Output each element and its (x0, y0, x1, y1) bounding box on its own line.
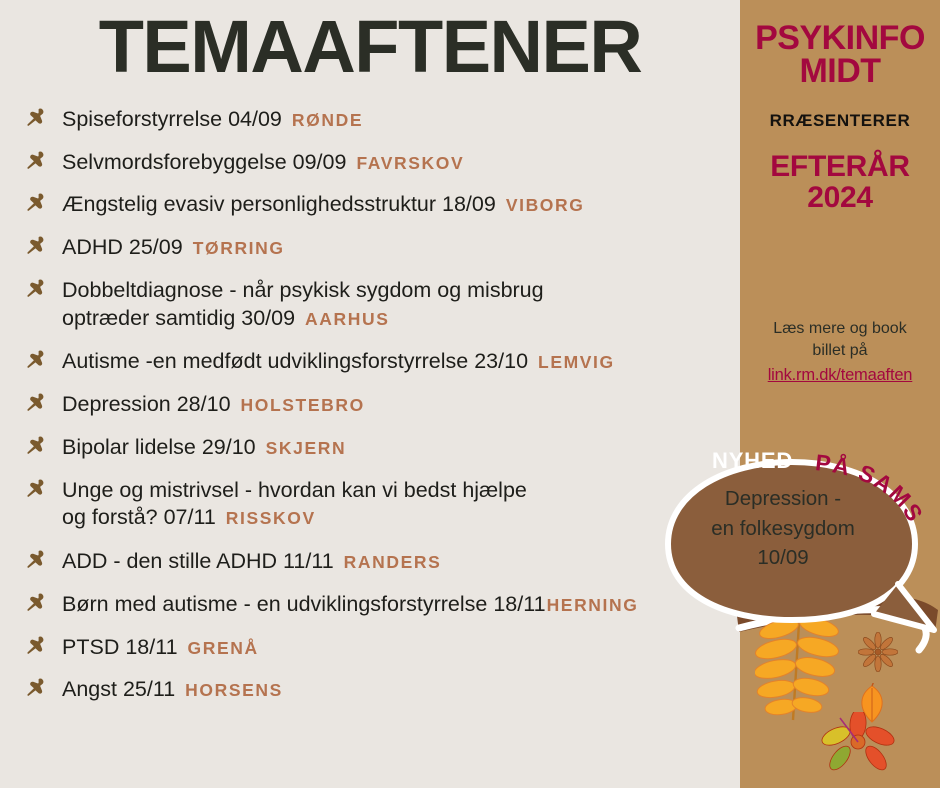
brand-line-1: PSYKINFO (755, 19, 925, 57)
list-item[interactable]: Angst 25/11HORSENS (22, 676, 742, 704)
booking-info: Læs mere og book billet på link.rm.dk/te… (740, 318, 940, 387)
season-year: 2024 (740, 182, 940, 214)
event-title: Ængstelig evasiv personlighedsstruktur 1… (62, 192, 496, 216)
pushpin-icon (24, 108, 50, 132)
event-city: TØRRING (193, 238, 285, 258)
event-title: Bipolar lidelse 29/10 (62, 435, 256, 459)
event-title-cont: og forstå? 07/11 (62, 505, 216, 529)
pushpin-icon (24, 636, 50, 660)
pushpin-icon (24, 393, 50, 417)
pushpin-icon (24, 279, 50, 303)
booking-line-1: Læs mere og book (773, 320, 906, 337)
pushpin-icon (24, 479, 50, 503)
season-line-1: EFTERÅR (770, 150, 910, 183)
event-city: GRENÅ (188, 638, 259, 658)
event-title: Selvmordsforebyggelse 09/09 (62, 150, 346, 174)
event-city: SKJERN (266, 438, 347, 458)
event-city: HORSENS (185, 680, 283, 700)
list-item[interactable]: Unge og mistrivsel - hvordan kan vi beds… (22, 477, 742, 532)
list-item[interactable]: Selvmordsforebyggelse 09/09FAVRSKOV (22, 149, 742, 177)
pushpin-icon (24, 550, 50, 574)
list-item[interactable]: Børn med autisme - en udviklingsforstyrr… (22, 591, 742, 619)
event-title: Dobbeltdiagnose - når psykisk sygdom og … (62, 278, 544, 302)
event-city: RISSKOV (226, 508, 316, 528)
list-item[interactable]: ADD - den stille ADHD 11/11RANDERS (22, 548, 742, 576)
list-item[interactable]: Depression 28/10HOLSTEBRO (22, 391, 742, 419)
event-city: RØNDE (292, 110, 363, 130)
list-item[interactable]: ADHD 25/09TØRRING (22, 234, 742, 262)
event-title-line2: og forstå? 07/11RISSKOV (62, 504, 742, 532)
list-item[interactable]: Autisme -en medfødt udviklingsforstyrrel… (22, 348, 742, 376)
brand-line-2: MIDT (740, 55, 940, 88)
pushpin-icon (24, 151, 50, 175)
booking-line-2: billet på (812, 342, 867, 359)
event-city: HERNING (547, 595, 639, 615)
season-label: EFTERÅR 2024 (740, 151, 940, 214)
event-title: ADHD 25/09 (62, 235, 183, 259)
event-city: HOLSTEBRO (241, 395, 365, 415)
event-title: ADD - den stille ADHD 11/11 (62, 549, 334, 573)
event-title-line2: optræder samtidig 30/09AARHUS (62, 305, 742, 333)
event-title: Depression 28/10 (62, 392, 231, 416)
event-title: Unge og mistrivsel - hvordan kan vi beds… (62, 478, 527, 502)
list-item[interactable]: PTSD 18/11GRENÅ (22, 634, 742, 662)
booking-url-link[interactable]: link.rm.dk/temaaften (748, 364, 932, 387)
list-item[interactable]: Ængstelig evasiv personlighedsstruktur 1… (22, 191, 742, 219)
event-city: RANDERS (344, 552, 442, 572)
event-list: Spiseforstyrrelse 04/09RØNDE Selvmordsfo… (22, 106, 742, 719)
event-title: Børn med autisme - en udviklingsforstyrr… (62, 592, 546, 616)
presents-label: RRÆSENTERER (740, 111, 940, 131)
event-title: Angst 25/11 (62, 677, 175, 701)
page-title: TEMAAFTENER (0, 8, 740, 86)
pushpin-icon (24, 593, 50, 617)
event-title: Spiseforstyrrelse 04/09 (62, 107, 282, 131)
pushpin-icon (24, 436, 50, 460)
brand-name: PSYKINFO MIDT (740, 0, 940, 89)
event-city: FAVRSKOV (356, 153, 464, 173)
event-city: VIBORG (506, 195, 585, 215)
event-city: AARHUS (305, 309, 389, 329)
list-item[interactable]: Dobbeltdiagnose - når psykisk sygdom og … (22, 277, 742, 332)
list-item[interactable]: Spiseforstyrrelse 04/09RØNDE (22, 106, 742, 134)
list-item[interactable]: Bipolar lidelse 29/10SKJERN (22, 434, 742, 462)
event-title: Autisme -en medfødt udviklingsforstyrrel… (62, 349, 528, 373)
pushpin-icon (24, 678, 50, 702)
poster-canvas: TEMAAFTENER Spiseforstyrrelse 04/09RØNDE… (0, 0, 940, 788)
maple-leaf-decoration (820, 712, 896, 780)
news-speech-bubble[interactable]: PÅ SAMSØ NYHED Depression - en folkesygd… (660, 424, 940, 649)
pushpin-icon (24, 350, 50, 374)
event-title-cont: optræder samtidig 30/09 (62, 306, 295, 330)
pushpin-icon (24, 193, 50, 217)
pushpin-icon (24, 236, 50, 260)
event-city: LEMVIG (538, 352, 615, 372)
event-title: PTSD 18/11 (62, 635, 178, 659)
